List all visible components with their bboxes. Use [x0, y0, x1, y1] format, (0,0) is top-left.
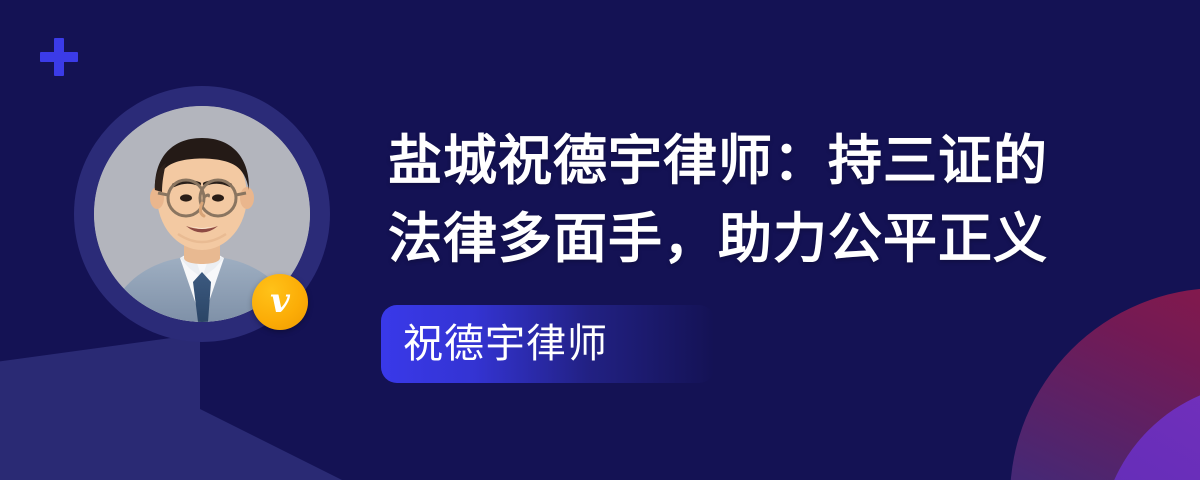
plus-icon	[40, 38, 78, 76]
gradient-blob-outer-icon	[1010, 288, 1200, 480]
lawyer-name-label: 祝德宇律师	[403, 324, 608, 364]
avatar: v	[74, 86, 330, 342]
gradient-blob-inner-icon	[1100, 382, 1200, 480]
angled-polygon-left-icon	[0, 334, 200, 480]
page-title: 盐城祝德宇律师：持三证的法律多面手，助力公平正义	[388, 122, 1088, 278]
headline-block: 盐城祝德宇律师：持三证的法律多面手，助力公平正义	[388, 122, 1088, 278]
verified-badge-glyph: v	[270, 284, 290, 318]
lawyer-name-pill: 祝德宇律师	[381, 305, 715, 383]
promo-banner: v 祝德宇律师 盐城祝德宇律师：持三证的法律多面手，助力公平正义	[0, 0, 1200, 480]
verified-badge-icon: v	[252, 274, 308, 330]
angled-polygon-mid-icon	[182, 400, 362, 480]
